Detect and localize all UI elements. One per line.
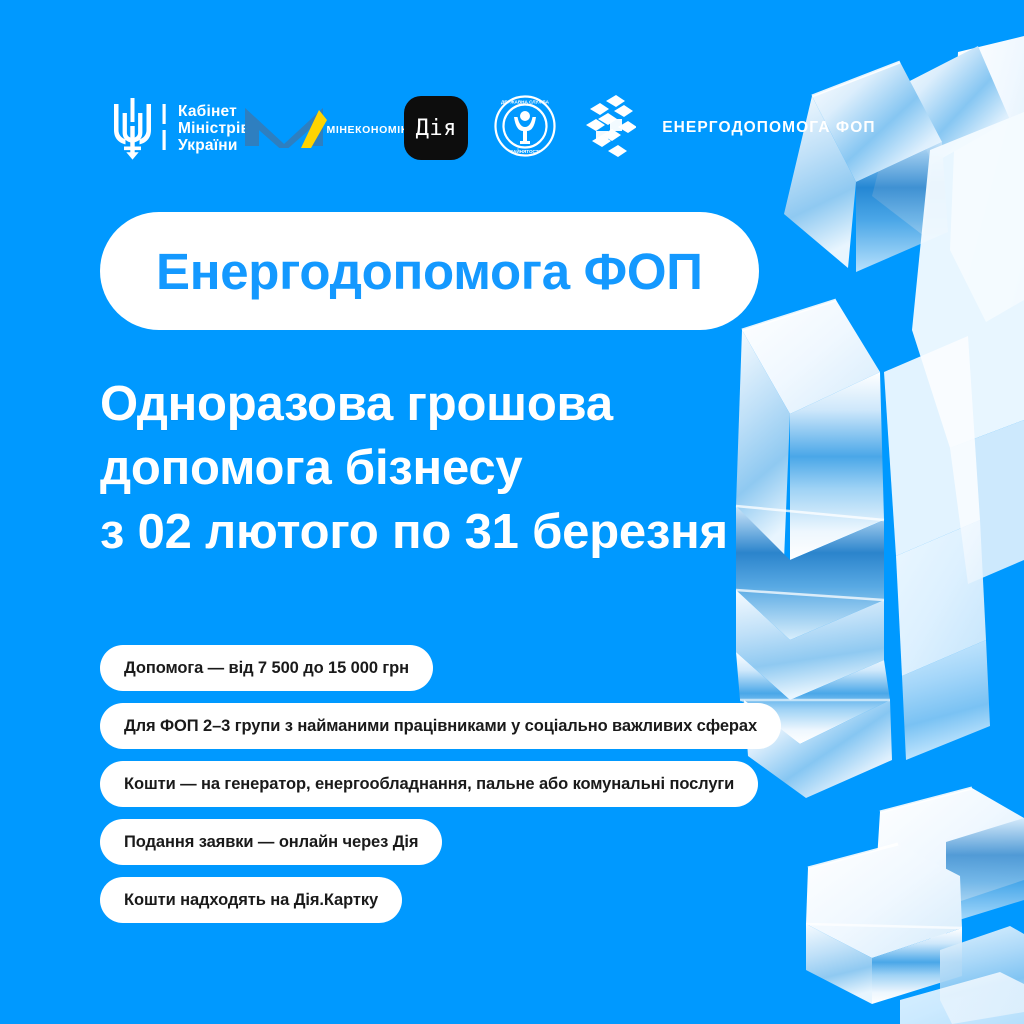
trident-icon: [100, 92, 170, 164]
glossy-3d-zigzag-ribbon-bottom-right: [806, 788, 1024, 1024]
bullet-item-application: Подання заявки — онлайн через Дія: [100, 819, 442, 865]
logo-diia-app: Дія: [404, 96, 468, 160]
zigzag-blocks-icon: [582, 95, 636, 162]
page-title: Енергодопомога ФОП: [156, 242, 703, 301]
logo-ministry-of-economy: МІНЕКОНОМІКИ: [280, 104, 376, 153]
cabinet-of-ministers-label: Кабінет Міністрів України: [178, 103, 250, 154]
bullet-item-eligibility: Для ФОП 2–3 групи з найманими працівника…: [100, 703, 781, 749]
mineco-m-icon: [241, 104, 327, 153]
svg-text:ЗАЙНЯТОСТІ: ЗАЙНЯТОСТІ: [510, 147, 540, 154]
logo-energy-support-mark: [582, 97, 636, 159]
logo-bar: Кабінет Міністрів України МІНЕКОНОМІКИ Д…: [100, 88, 876, 168]
svg-text:ДЕРЖАВНА СЛУЖБА: ДЕРЖАВНА СЛУЖБА: [501, 99, 550, 104]
employment-service-seal-icon: ДЕРЖАВНА СЛУЖБА ЗАЙНЯТОСТІ: [494, 95, 556, 162]
bullet-item-amount: Допомога — від 7 500 до 15 000 грн: [100, 645, 433, 691]
bullet-item-usage: Кошти — на генератор, енергообладнання, …: [100, 761, 758, 807]
brand-energy-support-label: ЕНЕРГОДОПОМОГА ФОП: [662, 119, 875, 137]
poster-root: Кабінет Міністрів України МІНЕКОНОМІКИ Д…: [0, 0, 1024, 1024]
logo-cabinet-of-ministers: Кабінет Міністрів України: [100, 92, 250, 164]
logo-state-employment-service: ДЕРЖАВНА СЛУЖБА ЗАЙНЯТОСТІ: [494, 97, 556, 159]
diia-label: Дія: [416, 116, 457, 141]
mineco-label: МІНЕКОНОМІКИ: [327, 124, 416, 136]
bullet-list: Допомога — від 7 500 до 15 000 грн Для Ф…: [100, 645, 781, 923]
bullet-item-payout: Кошти надходять на Дія.Картку: [100, 877, 402, 923]
title-card: Енергодопомога ФОП: [100, 212, 759, 330]
headline: Одноразова грошова допомога бізнесу з 02…: [100, 372, 728, 564]
